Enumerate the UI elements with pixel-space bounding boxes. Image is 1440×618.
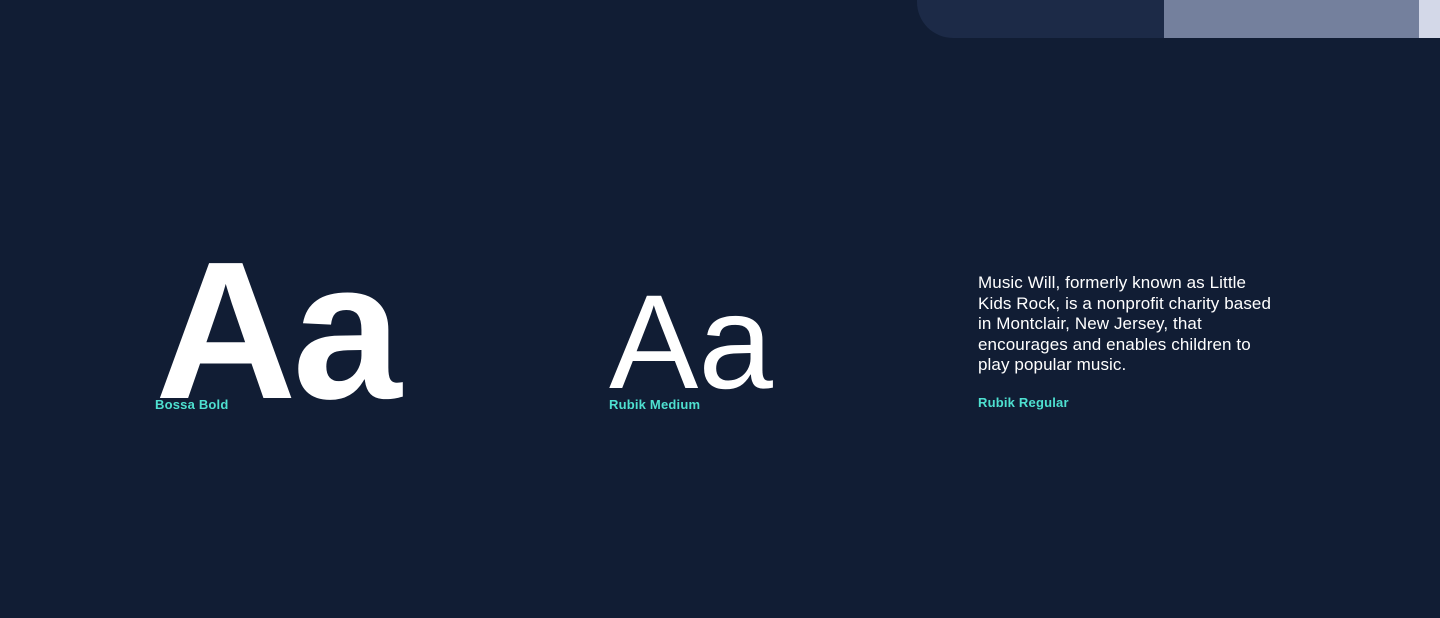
type-specimen-bossa-bold: Aa Bossa Bold <box>155 233 398 412</box>
specimen-caption: Rubik Regular <box>978 395 1288 410</box>
specimen-glyph-sample: Aa <box>609 276 773 372</box>
specimen-body-copy: Music Will, formerly known as Little Kid… <box>978 273 1283 376</box>
typography-specimen-row: Aa Bossa Bold Aa Rubik Medium Music Will… <box>0 0 1440 618</box>
type-specimen-rubik-regular: Music Will, formerly known as Little Kid… <box>978 273 1288 410</box>
specimen-glyph-sample: Aa <box>155 233 398 372</box>
type-specimen-rubik-medium: Aa Rubik Medium <box>609 276 773 412</box>
